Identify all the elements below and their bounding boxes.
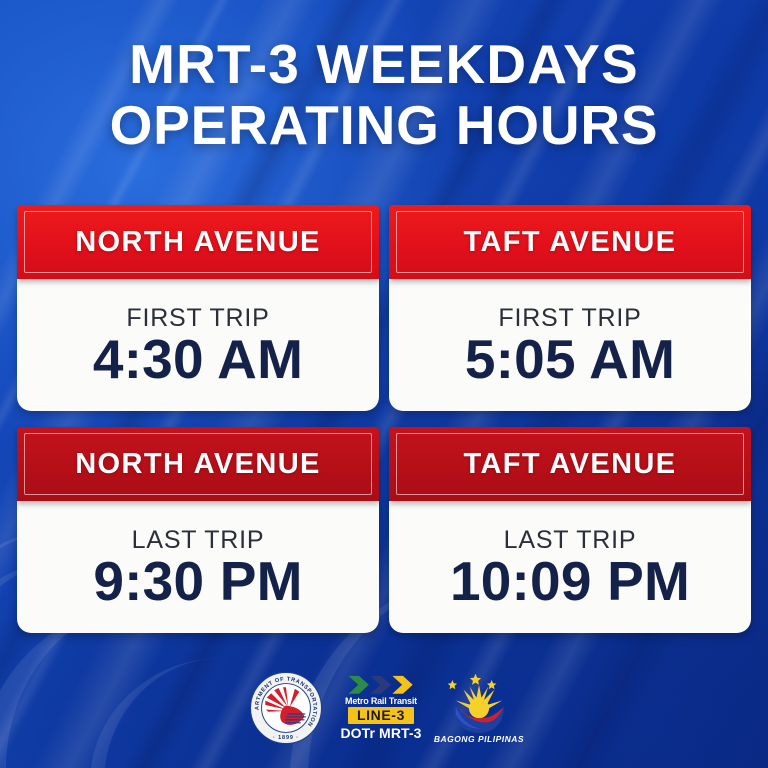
trip-time: 4:30 AM: [93, 331, 303, 388]
station-header: TAFT AVENUE: [389, 427, 751, 501]
mrt-subtitle: Metro Rail Transit: [345, 696, 417, 706]
schedule-card: NORTH AVENUE LAST TRIP 9:30 PM: [17, 427, 379, 633]
schedule-card-grid: NORTH AVENUE FIRST TRIP 4:30 AM TAFT AVE…: [17, 205, 751, 633]
mrt-chevrons-icon: [340, 675, 422, 695]
dotr-seal-icon: DEPARTMENT OF TRANSPORTATION · 1899 ·: [249, 671, 323, 745]
schedule-card: TAFT AVENUE FIRST TRIP 5:05 AM: [389, 205, 751, 411]
title-line-2: OPERATING HOURS: [0, 99, 768, 151]
schedule-card: NORTH AVENUE FIRST TRIP 4:30 AM: [17, 205, 379, 411]
trip-body: FIRST TRIP 4:30 AM: [17, 279, 379, 411]
mrt-line3-icon: Metro Rail Transit LINE-3 DOTr MRT-3: [339, 675, 423, 741]
footer-logo-bar: DEPARTMENT OF TRANSPORTATION · 1899 ·: [0, 666, 768, 750]
trip-body: LAST TRIP 10:09 PM: [389, 501, 751, 633]
station-name: TAFT AVENUE: [463, 448, 676, 481]
poster-canvas: MRT-3 WEEKDAYS OPERATING HOURS NORTH AVE…: [0, 0, 768, 768]
station-header: TAFT AVENUE: [389, 205, 751, 279]
station-header: NORTH AVENUE: [17, 205, 379, 279]
schedule-card: TAFT AVENUE LAST TRIP 10:09 PM: [389, 427, 751, 633]
page-title: MRT-3 WEEKDAYS OPERATING HOURS: [0, 38, 768, 152]
title-line-1: MRT-3 WEEKDAYS: [129, 33, 639, 95]
bagong-pilipinas-caption: BAGONG PILIPINAS: [434, 734, 524, 744]
mrt-dotr-label: DOTr MRT-3: [340, 725, 421, 741]
station-name: NORTH AVENUE: [75, 226, 321, 259]
trip-time: 9:30 PM: [93, 553, 302, 610]
trip-body: LAST TRIP 9:30 PM: [17, 501, 379, 633]
trip-time: 10:09 PM: [450, 553, 690, 610]
trip-time: 5:05 AM: [465, 331, 675, 388]
station-name: NORTH AVENUE: [75, 448, 321, 481]
trip-body: FIRST TRIP 5:05 AM: [389, 279, 751, 411]
bagong-pilipinas-icon: BAGONG PILIPINAS: [439, 671, 519, 745]
svg-text:· 1899 ·: · 1899 ·: [273, 735, 299, 741]
station-header: NORTH AVENUE: [17, 427, 379, 501]
station-name: TAFT AVENUE: [463, 226, 676, 259]
mrt-line-badge: LINE-3: [348, 707, 414, 725]
